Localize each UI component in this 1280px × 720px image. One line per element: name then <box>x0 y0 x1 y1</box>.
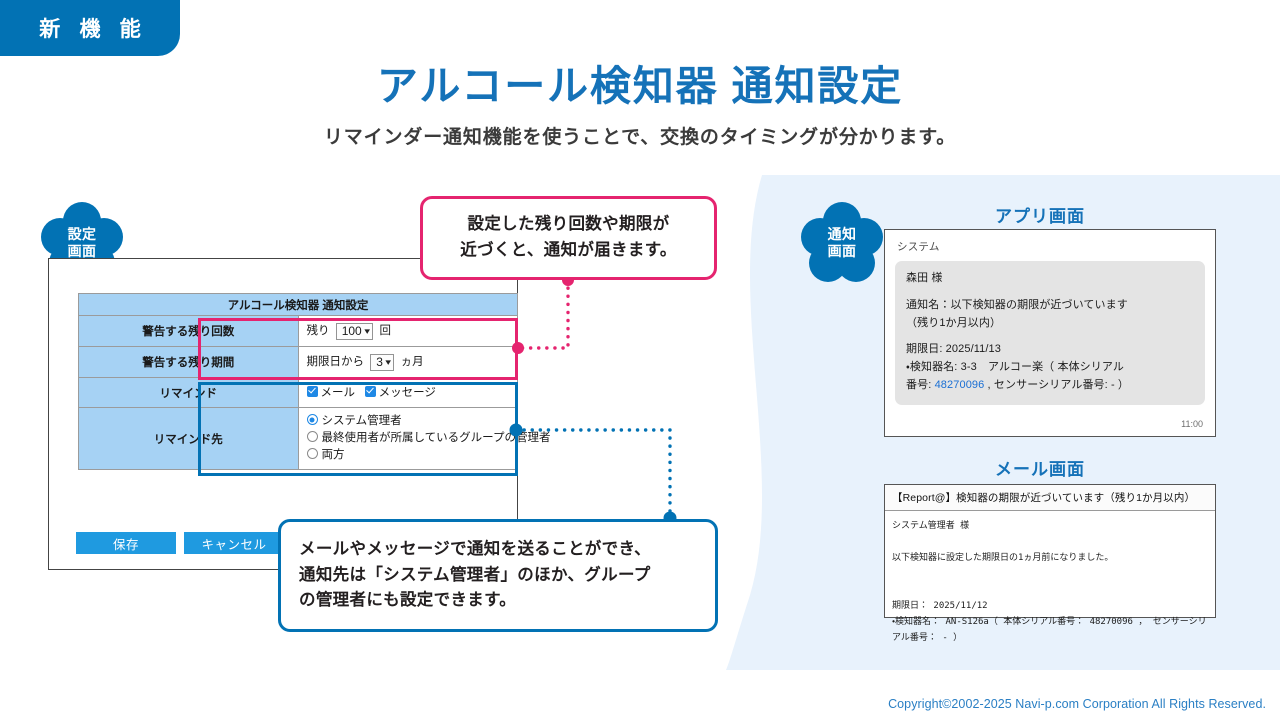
checkbox-message-label: メッセージ <box>379 387 436 399</box>
remaining-count-suffix: 回 <box>379 325 391 337</box>
callout-blue-line2: 通知先は「システム管理者」のほか、グループ <box>299 566 651 584</box>
radio-unselected-icon <box>307 448 318 459</box>
copyright-footer: Copyright©2002-2025 Navi-p.com Corporati… <box>888 697 1266 711</box>
cancel-button[interactable]: キャンセル <box>184 532 284 554</box>
chevron-down-icon: ▾ <box>364 324 370 339</box>
radio-option-group-admin[interactable]: 最終使用者が所属しているグループの管理者 <box>307 430 510 447</box>
remaining-count-select-value: 100 <box>342 324 362 339</box>
cloud-badge-settings-line1: 設定 <box>68 226 97 243</box>
device-serial-prefix: 番号: <box>906 379 935 391</box>
row-label-remaining-count: 警告する残り回数 <box>79 316 299 347</box>
row-label-remaining-period: 警告する残り期間 <box>79 347 299 378</box>
remaining-period-suffix: ヵ月 <box>401 356 424 368</box>
remaining-period-select-value: 3 <box>376 355 383 370</box>
cloud-badge-notify-line1: 通知 <box>828 226 857 243</box>
mail-body: システム管理者 様 以下検知器に設定した期限日の1ヵ月前になりました。 期限日：… <box>885 511 1215 653</box>
radio-selected-icon <box>307 414 318 425</box>
radio-option-system-admin[interactable]: システム管理者 <box>307 413 510 430</box>
table-row-remaining-count: 警告する残り回数 残り 100 ▾ 回 <box>79 316 518 347</box>
remaining-count-prefix: 残り <box>307 325 330 337</box>
mail-screen-title: メール画面 <box>880 455 1200 480</box>
radio-option-both[interactable]: 両方 <box>307 447 510 464</box>
app-message-timestamp: 11:00 <box>1181 419 1203 429</box>
mail-subject: 【Report@】検知器の期限が近づいています（残り1か月以内） <box>885 485 1215 511</box>
new-feature-badge-label: 新 機 能 <box>33 13 148 43</box>
chevron-down-icon: ▾ <box>385 355 391 370</box>
app-message-bubble: 森田 様 通知名：以下検知器の期限が近づいています （残り1か月以内） 期限日:… <box>895 261 1205 405</box>
callout-blue-line3: の管理者にも設定できます。 <box>299 591 516 609</box>
app-message-notice-line2: （残り1か月以内） <box>906 315 1194 333</box>
mail-screen-mock: 【Report@】検知器の期限が近づいています（残り1か月以内） システム管理者… <box>884 484 1216 618</box>
notification-settings-table: アルコール検知器 通知設定 警告する残り回数 残り 100 ▾ 回 警告する残り… <box>78 293 518 470</box>
radio-option-group-admin-label: 最終使用者が所属しているグループの管理者 <box>322 432 551 444</box>
table-row-remaining-period: 警告する残り期間 期限日から 3 ▾ ヵ月 <box>79 347 518 378</box>
row-value-remaining-count: 残り 100 ▾ 回 <box>298 316 518 347</box>
row-value-remind: メール メッセージ <box>298 378 518 408</box>
callout-pink-line2: 近づくと、通知が届きます。 <box>460 241 676 259</box>
radio-option-both-label: 両方 <box>322 449 345 461</box>
callout-blue-line1: メールやメッセージで通知を送ることができ、 <box>299 540 651 558</box>
row-value-remind-target: システム管理者 最終使用者が所属しているグループの管理者 両方 <box>298 408 518 470</box>
app-screen-mock: システム 森田 様 通知名：以下検知器の期限が近づいています （残り1か月以内）… <box>884 229 1216 437</box>
checkbox-mail-label: メール <box>321 387 356 399</box>
app-message-sender: システム <box>897 239 1205 254</box>
app-message-expiry: 期限日: 2025/11/13 <box>906 341 1194 359</box>
checkbox-checked-icon <box>365 386 376 397</box>
callout-blue: メールやメッセージで通知を送ることができ、 通知先は「システム管理者」のほか、グ… <box>278 519 718 632</box>
callout-pink-line1: 設定した残り回数や期限が <box>468 215 670 233</box>
new-feature-badge: 新 機 能 <box>0 0 180 56</box>
app-message-notice-line1: 通知名：以下検知器の期限が近づいています <box>906 297 1194 315</box>
remaining-period-prefix: 期限日から <box>307 356 365 368</box>
row-label-remind-target: リマインド先 <box>79 408 299 470</box>
cloud-badge-notification-screen: 通知 画面 <box>800 201 884 285</box>
checkbox-mail[interactable]: メール <box>307 387 356 399</box>
checkbox-checked-icon <box>307 386 318 397</box>
slide-canvas: 新 機 能 アルコール検知器 通知設定 リマインダー通知機能を使うことで、交換の… <box>0 0 1280 720</box>
table-row-remind: リマインド メール メッセージ <box>79 378 518 408</box>
page-subtitle: リマインダー通知機能を使うことで、交換のタイミングが分かります。 <box>0 122 1280 149</box>
row-label-remind: リマインド <box>79 378 299 408</box>
page-title: アルコール検知器 通知設定 <box>0 52 1280 112</box>
app-screen-title: アプリ画面 <box>880 202 1200 227</box>
callout-pink: 設定した残り回数や期限が 近づくと、通知が届きます。 <box>420 196 717 280</box>
device-serial-suffix: , センサーシリアル番号: - ） <box>984 379 1129 391</box>
app-message-device-line-b: 番号: 48270096 , センサーシリアル番号: - ） <box>906 377 1194 395</box>
checkbox-message[interactable]: メッセージ <box>365 387 436 399</box>
radio-unselected-icon <box>307 431 318 442</box>
app-message-greeting: 森田 様 <box>906 270 1194 288</box>
radio-option-system-admin-label: システム管理者 <box>322 415 402 427</box>
remaining-period-select[interactable]: 3 ▾ <box>370 354 394 371</box>
row-value-remaining-period: 期限日から 3 ▾ ヵ月 <box>298 347 518 378</box>
save-button[interactable]: 保存 <box>76 532 176 554</box>
remaining-count-select[interactable]: 100 ▾ <box>336 323 374 340</box>
app-message-device-line-a: ・検知器名: 3-3 アルコー楽（ 本体シリアル <box>906 359 1194 377</box>
table-row-remind-target: リマインド先 システム管理者 最終使用者が所属しているグループの管理者 両方 <box>79 408 518 470</box>
cloud-badge-notify-line2: 画面 <box>828 243 857 260</box>
device-serial-number[interactable]: 48270096 <box>935 379 985 391</box>
table-title: アルコール検知器 通知設定 <box>79 294 518 316</box>
